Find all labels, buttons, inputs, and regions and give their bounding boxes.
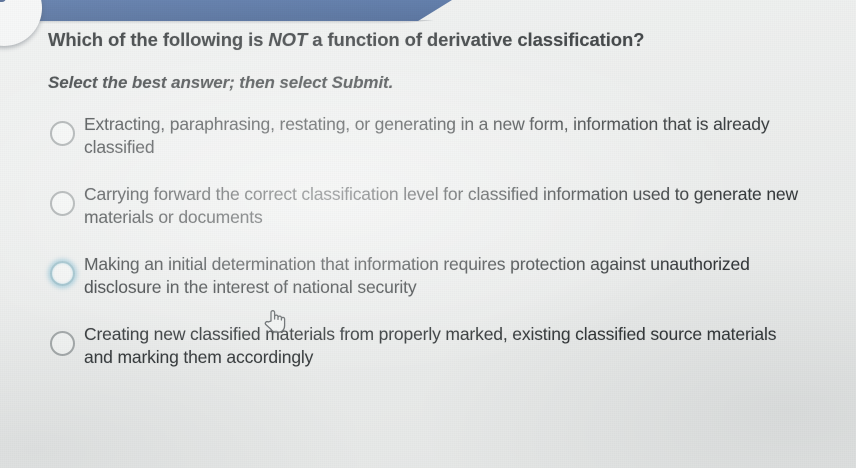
hand-pointer-cursor (262, 307, 288, 335)
answer-option-c-label: Making an initial determination that inf… (84, 253, 856, 299)
answer-option-a-label: Extracting, paraphrasing, restating, or … (84, 113, 856, 159)
badge-logo-icon (0, 0, 12, 10)
answer-option-d-label: Creating new classified materials from p… (84, 323, 856, 369)
top-banner (0, 0, 452, 21)
answer-option-b-label: Carrying forward the correct classificat… (84, 183, 856, 229)
question-text-suffix: a function of derivative classification? (307, 29, 644, 50)
answer-option-b[interactable]: Carrying forward the correct classificat… (0, 183, 856, 235)
page-title: Which of the following is NOT a function… (48, 29, 644, 51)
answer-options-list: Extracting, paraphrasing, restating, or … (0, 113, 856, 393)
radio-button-d[interactable] (50, 331, 75, 356)
answer-option-a[interactable]: Extracting, paraphrasing, restating, or … (0, 113, 856, 165)
question-emphasis-not: NOT (268, 29, 307, 50)
instruction-text: Select the best answer; then select Subm… (48, 73, 393, 93)
radio-button-c[interactable] (50, 261, 75, 286)
answer-option-d[interactable]: Creating new classified materials from p… (0, 323, 856, 375)
question-text-prefix: Which of the following is (48, 29, 268, 50)
quiz-screen: Which of the following is NOT a function… (0, 0, 856, 468)
radio-button-a[interactable] (50, 121, 75, 146)
answer-option-c[interactable]: Making an initial determination that inf… (0, 253, 856, 305)
radio-button-b[interactable] (50, 191, 75, 216)
